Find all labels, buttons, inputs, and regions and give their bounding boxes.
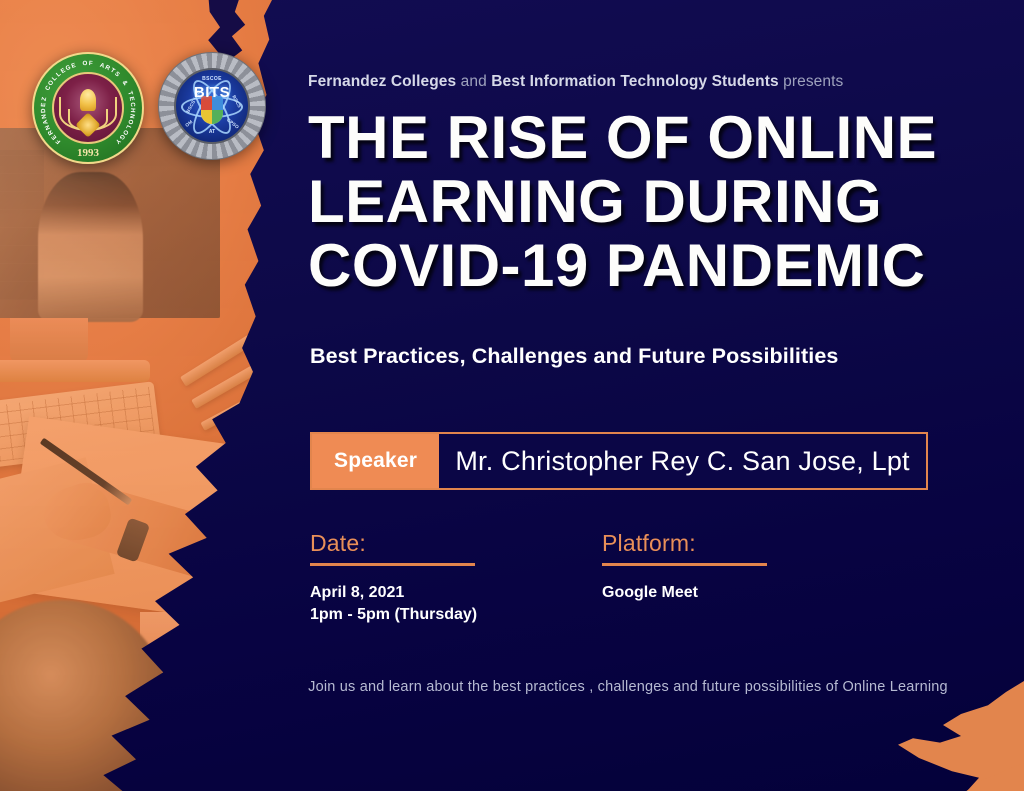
footer-invitation-text: Join us and learn about the best practic…: [308, 676, 948, 699]
platform-underline: [602, 563, 767, 566]
bits-organization-logo-icon: BSCOE BITS BSCS LSD BSCS OM CPSO AT: [158, 52, 266, 160]
fernandez-college-seal-icon: FERNANDEZ COLLEGE OF ARTS & TECHNOLOGY 1…: [32, 52, 144, 164]
page-title: THE RISE OF ONLINE LEARNING DURING COVID…: [308, 106, 948, 298]
date-heading: Date:: [310, 530, 602, 557]
speaker-label-badge: Speaker: [312, 434, 439, 488]
title-line-3: COVID-19 PANDEMIC: [308, 234, 948, 298]
info-column-date: Date: April 8, 2021 1pm - 5pm (Thursday): [310, 530, 602, 626]
presenter-org-primary: Fernandez Colleges: [308, 73, 456, 90]
event-poster: FERNANDEZ COLLEGE OF ARTS & TECHNOLOGY 1…: [0, 0, 1024, 791]
speaker-bar: Speaker Mr. Christopher Rey C. San Jose,…: [310, 432, 928, 490]
date-value: April 8, 2021 1pm - 5pm (Thursday): [310, 582, 602, 626]
bits-inner-disc: BSCOE BITS BSCS LSD BSCS OM CPSO AT: [174, 68, 250, 144]
subtitle: Best Practices, Challenges and Future Po…: [310, 344, 838, 369]
logo-row: FERNANDEZ COLLEGE OF ARTS & TECHNOLOGY 1…: [32, 52, 266, 164]
presenter-conjunction: and: [456, 73, 491, 90]
platform-value: Google Meet: [602, 582, 894, 604]
info-column-platform: Platform: Google Meet: [602, 530, 894, 626]
presenter-org-secondary: Best Information Technology Students: [491, 73, 779, 90]
bits-bottom-label: AT: [176, 129, 248, 135]
title-line-1: THE RISE OF ONLINE: [308, 106, 948, 170]
platform-heading: Platform:: [602, 530, 894, 557]
presenter-line: Fernandez Colleges and Best Information …: [308, 73, 843, 91]
info-row: Date: April 8, 2021 1pm - 5pm (Thursday)…: [310, 530, 910, 626]
presenter-suffix: presents: [779, 73, 844, 90]
speaker-name: Mr. Christopher Rey C. San Jose, Lpt: [439, 434, 926, 488]
poster-content: Fernandez Colleges and Best Information …: [308, 0, 1008, 791]
bits-top-label: BSCOE: [176, 76, 248, 82]
bits-acronym: BITS: [176, 84, 248, 101]
title-line-2: LEARNING DURING: [308, 170, 948, 234]
seal-inner-shield: [52, 72, 124, 144]
date-underline: [310, 563, 475, 566]
seal-founding-year: 1993: [32, 147, 144, 159]
